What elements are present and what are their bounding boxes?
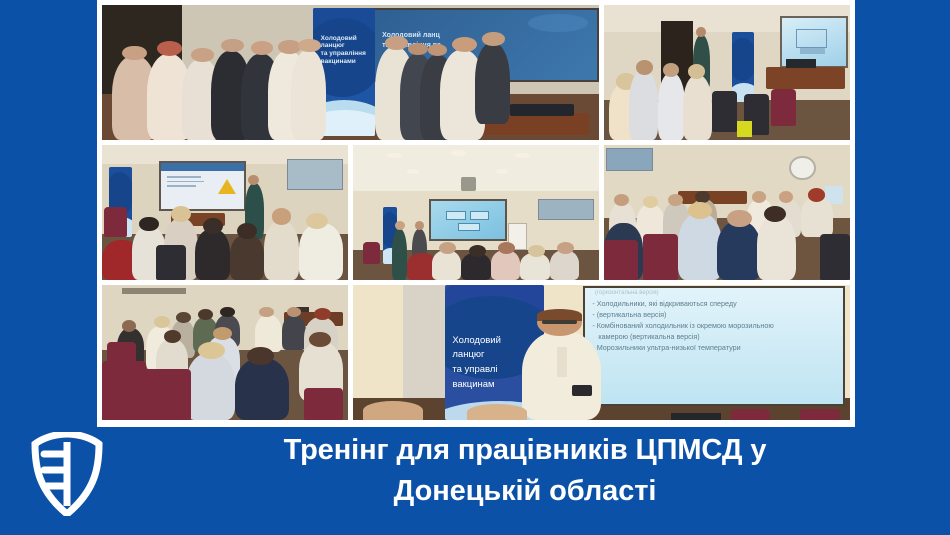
photo-collage: Холодовий ланцта управління ва Холодовий… <box>97 0 855 427</box>
collage-photo-speaker-slide: (горизонтальна версія) - Холодильники, я… <box>353 285 850 420</box>
shield-logo <box>30 432 104 516</box>
collage-photo-wide-room-diagram <box>353 145 599 280</box>
title-line-1: Тренінг для працівників ЦПМСД у <box>284 430 767 471</box>
slide-line-0: (горизонтальна версія) <box>595 290 835 296</box>
banner-caption-1: Холодовийланцюгта управліннявакцинами <box>321 35 366 66</box>
slide-line-2: - (вертикальна версія) <box>592 309 835 320</box>
title-line-2: Донецькій області <box>394 471 657 512</box>
banner-caption-2: Холодовийланцюгта управлівакцинам <box>452 334 501 393</box>
poster-title: Тренінг для працівників ЦПМСД у Донецькі… <box>120 430 930 530</box>
collage-photo-audience-warning-slide <box>102 145 348 280</box>
collage-photo-lecture-presenter <box>604 5 850 140</box>
collage-photo-group-banner: Холодовий ланцта управління ва Холодовий… <box>102 5 599 140</box>
slide-line-3: - Комбінований холодильник із окремою мо… <box>592 320 835 331</box>
collage-photo-audience-rows <box>102 285 348 420</box>
collage-photo-seated-participants <box>604 145 850 280</box>
slide-line-1: - Холодильники, які відкриваються сперед… <box>592 298 835 309</box>
slide-line-5: - Морозильники ультра-низької температур… <box>592 342 835 353</box>
slide-body: - Холодильники, які відкриваються сперед… <box>592 298 835 354</box>
slide-line-4: камерою (вертикальна версія) <box>592 331 835 342</box>
poster-root: Холодовий ланцта управління ва Холодовий… <box>0 0 950 535</box>
